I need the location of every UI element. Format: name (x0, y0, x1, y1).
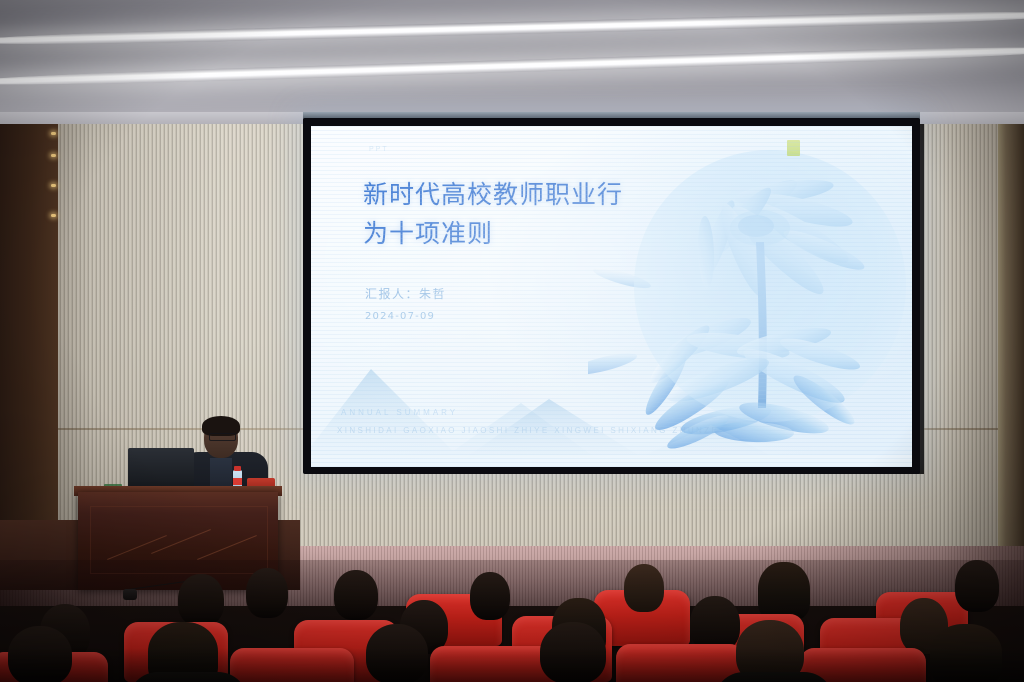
water-bottle-cap (234, 466, 241, 471)
glasses-icon (209, 433, 236, 441)
mountain-silhouette (311, 347, 912, 467)
auditorium-scene: PPT 新时代高校教师职业行 为十项准则 汇报人：朱哲 2024-07-09 A… (0, 0, 1024, 682)
right-wall-recess (998, 124, 1024, 550)
slide-title: 新时代高校教师职业行 为十项准则 (363, 176, 693, 254)
audience-head (334, 570, 378, 620)
slide-footer-line-2: XINSHIDAI GAOXIAO JIAOSHI ZHIYE XINGWEI … (337, 426, 719, 435)
slide-presenter: 汇报人：朱哲 (365, 285, 446, 302)
ceiling-light-strip-1 (0, 8, 1024, 47)
presentation-slide: PPT 新时代高校教师职业行 为十项准则 汇报人：朱哲 2024-07-09 A… (311, 126, 912, 467)
projection-screen[interactable]: PPT 新时代高校教师职业行 为十项准则 汇报人：朱哲 2024-07-09 A… (311, 126, 912, 467)
ceiling (0, 0, 1024, 128)
water-bottle-label (233, 478, 242, 485)
green-tag-mark (787, 140, 800, 156)
slide-title-line-2: 为十项准则 (363, 215, 693, 254)
slide-footer-line-1: ANNUAL SUMMARY (341, 408, 458, 417)
slide-date: 2024-07-09 (365, 311, 435, 322)
slide-top-mark: PPT (369, 146, 389, 153)
audience-head (246, 568, 288, 618)
audience-head (758, 562, 810, 620)
audience-head (955, 560, 999, 612)
left-wall-recess (0, 124, 58, 550)
foreground-shadow (0, 648, 1024, 682)
audience-head (470, 572, 510, 620)
audience-head (178, 574, 224, 626)
ceiling-light-strip-2 (0, 44, 1024, 89)
audience-head (624, 564, 664, 612)
slide-title-line-1: 新时代高校教师职业行 (363, 176, 693, 215)
